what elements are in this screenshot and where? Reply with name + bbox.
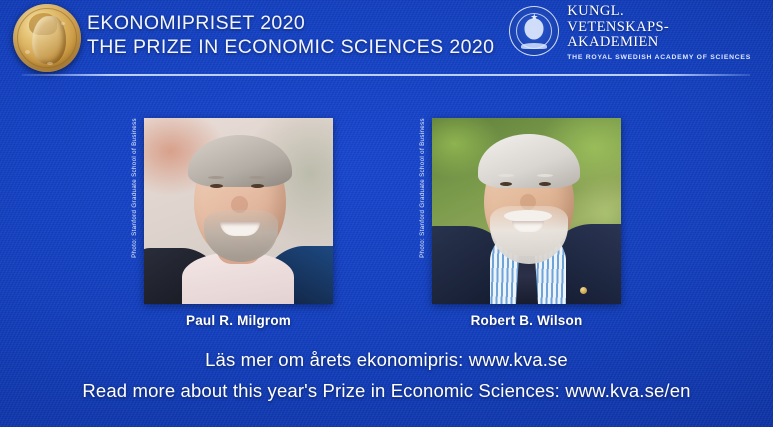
lapel-pin-icon (580, 287, 587, 294)
academy-wordmark: KUNGL. VETENSKAPS- AKADEMIEN THE ROYAL S… (567, 4, 751, 61)
photo-credit-text: Photo: Stanford Graduate School of Busin… (131, 118, 138, 258)
presentation-slide: EKONOMIPRISET 2020 THE PRIZE IN ECONOMIC… (0, 0, 773, 427)
medal-speck (25, 50, 30, 54)
royal-academy-seal-icon: ★ (509, 6, 559, 56)
slide-title: EKONOMIPRISET 2020 THE PRIZE IN ECONOMIC… (87, 13, 494, 59)
photo-credit-milgrom: Photo: Stanford Graduate School of Busin… (127, 118, 141, 304)
medal-speck (61, 22, 65, 25)
eyebrow-left (498, 174, 514, 177)
slide-header: EKONOMIPRISET 2020 THE PRIZE IN ECONOMIC… (0, 0, 773, 78)
header-divider (22, 74, 750, 76)
slide-footer: Läs mer om årets ekonomipris: www.kva.se… (0, 349, 773, 402)
academy-line-2: VETENSKAPS- (567, 20, 751, 36)
academy-line-3: AKADEMIEN (567, 35, 751, 51)
laureate-name-milgrom: Paul R. Milgrom (144, 313, 333, 328)
photo-credit-text: Photo: Stanford Graduate School of Busin… (419, 118, 426, 258)
academy-subtitle: THE ROYAL SWEDISH ACADEMY OF SCIENCES (567, 54, 751, 61)
photo-credit-wilson: Photo: Stanford Graduate School of Busin… (415, 118, 429, 304)
eye-right (539, 182, 551, 186)
nobel-medal-icon (13, 4, 81, 72)
laureate-card-wilson: Photo: Stanford Graduate School of Busin… (432, 118, 621, 304)
academy-line-1: KUNGL. (567, 4, 751, 20)
laureate-card-milgrom: Photo: Stanford Graduate School of Busin… (144, 118, 333, 304)
footer-swedish: Läs mer om årets ekonomipris: www.kva.se (0, 349, 773, 371)
eye-right (251, 184, 264, 188)
title-english: THE PRIZE IN ECONOMIC SCIENCES 2020 (87, 37, 494, 59)
medal-speck (47, 62, 53, 65)
laureate-name-wilson: Robert B. Wilson (432, 313, 621, 328)
laureate-photo-milgrom (144, 118, 333, 304)
hair (188, 135, 292, 187)
academy-logo: ★ KUNGL. VETENSKAPS- AKADEMIEN THE ROYAL… (509, 4, 751, 61)
eyebrow-left (208, 176, 224, 179)
eye-left (500, 182, 512, 186)
seal-figure (525, 19, 544, 40)
eyebrow-right (249, 176, 265, 179)
title-swedish: EKONOMIPRISET 2020 (87, 13, 494, 35)
seal-base (521, 43, 547, 49)
eyebrow-right (537, 174, 553, 177)
hair (478, 134, 580, 188)
eye-left (210, 184, 223, 188)
footer-english: Read more about this year's Prize in Eco… (0, 380, 773, 402)
laureate-photo-wilson (432, 118, 621, 304)
